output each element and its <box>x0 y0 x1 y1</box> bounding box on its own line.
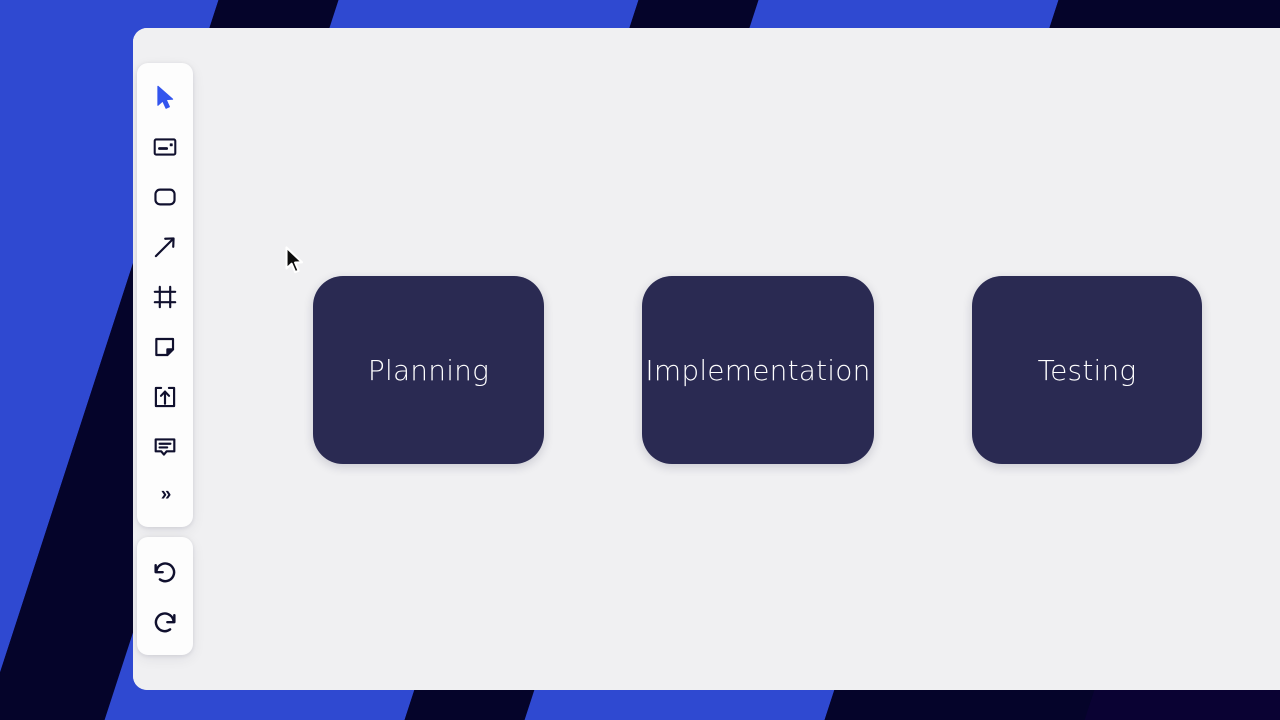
node-label: Testing <box>1038 354 1137 387</box>
tool-select-button[interactable] <box>137 72 193 122</box>
node-planning[interactable]: Planning <box>313 276 544 464</box>
node-label: Implementation <box>645 354 870 387</box>
arrow-line-icon <box>152 234 178 260</box>
tool-shape-button[interactable] <box>137 172 193 222</box>
tool-upload-button[interactable] <box>137 372 193 422</box>
comment-bubble-icon <box>152 434 178 460</box>
tool-note-button[interactable] <box>137 322 193 372</box>
chevrons-right-icon: » <box>161 484 170 506</box>
application-window: PlanningImplementationTesting » <box>133 28 1280 690</box>
tool-comment-button[interactable] <box>137 422 193 472</box>
redo-arrow-icon <box>151 607 179 635</box>
cursor-select-icon <box>152 84 178 110</box>
node-implementation[interactable]: Implementation <box>642 276 874 464</box>
tool-card-button[interactable] <box>137 122 193 172</box>
rounded-rect-icon <box>152 184 178 210</box>
undo-arrow-icon <box>151 557 179 585</box>
tool-more-button[interactable]: » <box>137 472 193 518</box>
tool-redo-button[interactable] <box>137 596 193 646</box>
tool-arrow-button[interactable] <box>137 222 193 272</box>
screen-root: PlanningImplementationTesting » <box>0 0 1280 720</box>
diagram-layer: PlanningImplementationTesting <box>133 28 1280 690</box>
sticky-note-icon <box>152 334 178 360</box>
card-frame-icon <box>152 134 178 160</box>
node-label: Planning <box>368 354 489 387</box>
whiteboard-canvas[interactable]: PlanningImplementationTesting <box>133 28 1280 690</box>
primary-tools: » <box>137 63 193 527</box>
upload-box-icon <box>152 384 178 410</box>
tool-undo-button[interactable] <box>137 546 193 596</box>
tool-sidebar: » <box>137 63 193 655</box>
node-testing[interactable]: Testing <box>972 276 1202 464</box>
tool-frame-button[interactable] <box>137 272 193 322</box>
history-tools <box>137 537 193 655</box>
frame-crop-icon <box>152 284 178 310</box>
